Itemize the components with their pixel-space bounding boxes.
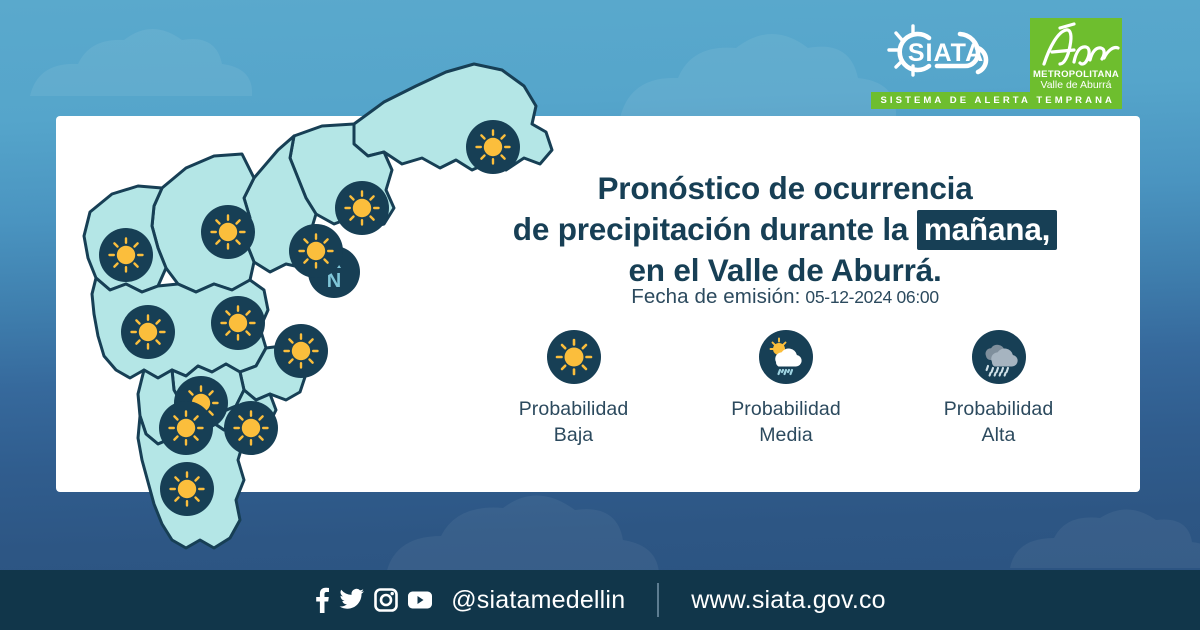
area-metropolitana-logo: METROPOLITANA Valle de Aburrá [1030, 18, 1122, 96]
legend-item-alta: Probabilidad Alta [911, 330, 1086, 449]
facebook-icon[interactable] [314, 586, 330, 614]
legend-label-baja: Probabilidad Baja [519, 396, 629, 449]
svg-text:SIATA: SIATA [908, 39, 984, 67]
legend-label-alta: Probabilidad Alta [944, 396, 1054, 449]
twitter-icon[interactable] [339, 588, 365, 612]
headline-line-1: Pronóstico de ocurrencia [597, 170, 972, 206]
legend-item-media: Probabilidad Media [699, 330, 874, 449]
sun-icon [159, 401, 213, 455]
sun-icon [466, 120, 520, 174]
social-handle[interactable]: @siatamedellin [451, 586, 625, 615]
sun-icon [547, 330, 601, 384]
map-marker[interactable] [201, 205, 255, 264]
map-marker[interactable] [121, 305, 175, 364]
headline-line-2-before: de precipitación durante la [513, 211, 908, 247]
footer-bar: @siatamedellin www.siata.gov.co [0, 570, 1200, 630]
map-marker[interactable] [211, 296, 265, 355]
sun-icon [160, 462, 214, 516]
map-marker[interactable] [224, 401, 278, 460]
instagram-icon[interactable] [374, 588, 398, 612]
map-marker[interactable] [289, 224, 343, 283]
website-url[interactable]: www.siata.gov.co [691, 586, 885, 615]
sun-icon [201, 205, 255, 259]
issue-date-value: 05-12-2024 06:00 [805, 287, 938, 307]
map-marker[interactable] [274, 324, 328, 383]
infographic-canvas: N [0, 0, 1200, 630]
sun-cloud-rain-icon [759, 330, 813, 384]
map-marker[interactable] [160, 462, 214, 521]
sun-icon [99, 228, 153, 282]
youtube-icon[interactable] [407, 590, 433, 610]
headline-highlight-period: mañana, [917, 210, 1057, 250]
sun-icon [289, 224, 343, 278]
issue-date-label: Fecha de emisión: [631, 285, 800, 308]
map-marker[interactable] [159, 401, 213, 460]
siata-logo: SIATA [882, 18, 1020, 94]
sun-icon [211, 296, 265, 350]
sun-icon [274, 324, 328, 378]
page-title: Pronóstico de ocurrencia de precipitació… [470, 168, 1100, 291]
footer-divider [657, 583, 659, 617]
map-marker[interactable] [99, 228, 153, 287]
issue-date-row: Fecha de emisión:05-12-2024 06:00 [470, 285, 1100, 309]
sun-icon [121, 305, 175, 359]
probability-legend: Probabilidad Baja [486, 330, 1086, 449]
siata-tagline: SISTEMA DE ALERTA TEMPRANA [871, 92, 1122, 109]
area-logo-subtitle: METROPOLITANA Valle de Aburrá [1030, 70, 1122, 91]
headline-line-3: en el Valle de Aburrá. [628, 252, 941, 288]
map-marker[interactable] [335, 181, 389, 240]
legend-item-baja: Probabilidad Baja [486, 330, 661, 449]
legend-label-media: Probabilidad Media [731, 396, 841, 449]
social-icons [314, 586, 433, 614]
cloud-rain-icon [972, 330, 1026, 384]
sun-icon [224, 401, 278, 455]
logo-group: SIATA METROPOLITANA Valle de Aburrá [882, 18, 1122, 96]
sun-icon [335, 181, 389, 235]
